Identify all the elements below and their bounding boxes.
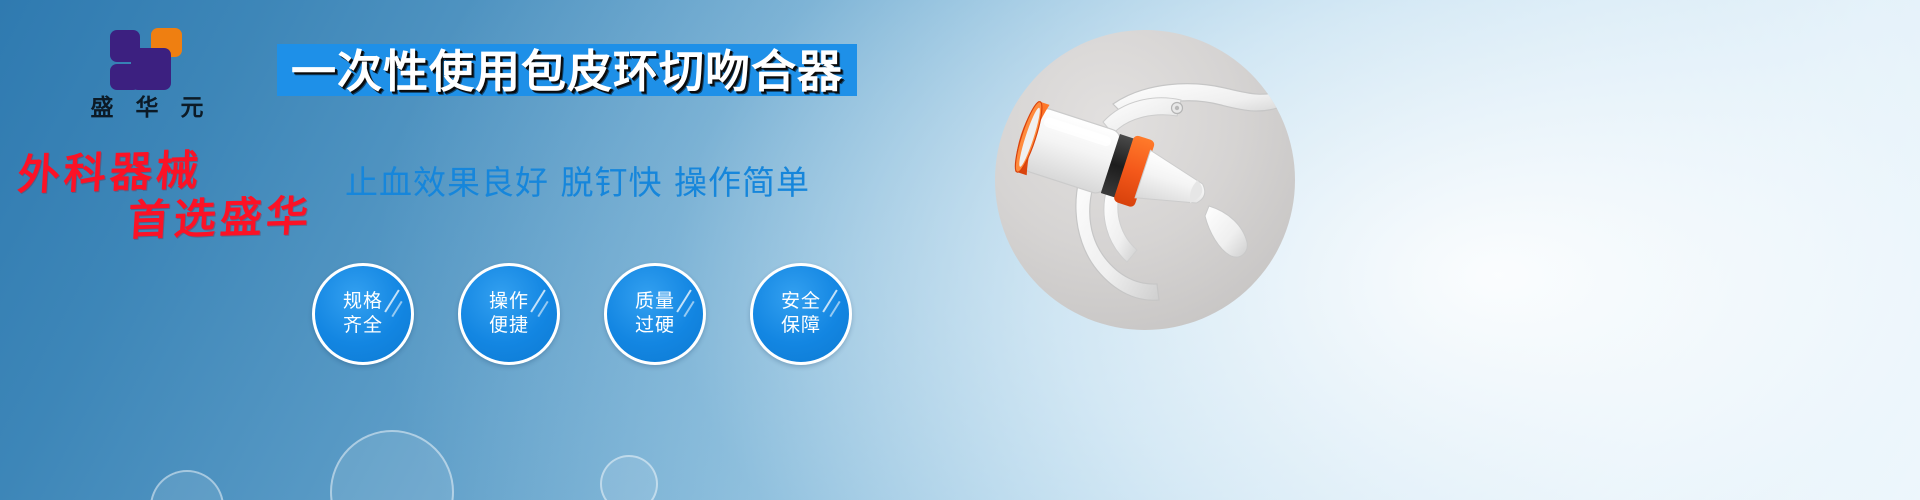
- decorative-bubble: [600, 455, 658, 500]
- slash-decoration-icon: [537, 301, 548, 317]
- feature-circle-safety[interactable]: 安全 保障: [750, 263, 852, 365]
- feature-circle-specs[interactable]: 规格 齐全: [312, 263, 414, 365]
- decorative-bubble: [330, 430, 454, 500]
- company-logo[interactable]: 盛 华 元: [62, 28, 232, 128]
- feature-label-line-1: 操作: [489, 290, 529, 314]
- feature-label: 质量 过硬: [635, 290, 675, 338]
- subtitle-text: 止血效果良好 脱钉快 操作简单: [345, 166, 810, 199]
- decorative-bubble: [150, 470, 224, 500]
- slogan-line-1: 外科器械: [16, 146, 359, 198]
- feature-label: 操作 便捷: [489, 290, 529, 338]
- product-banner: 盛 华 元 外科器械 首选盛华 一次性使用包皮环切吻合器 止血效果良好 脱钉快 …: [0, 0, 1920, 500]
- calligraphy-slogan: 外科器械 首选盛华: [18, 150, 358, 240]
- slash-decoration-icon: [829, 301, 840, 317]
- feature-label-line-1: 安全: [781, 290, 821, 314]
- feature-label-line-2: 齐全: [343, 314, 383, 338]
- feature-circle-operation[interactable]: 操作 便捷: [458, 263, 560, 365]
- product-image[interactable]: [995, 30, 1295, 330]
- slash-decoration-icon: [391, 301, 402, 317]
- feature-label-line-2: 便捷: [489, 314, 529, 338]
- feature-label-line-2: 过硬: [635, 314, 675, 338]
- feature-label-line-2: 保障: [781, 314, 821, 338]
- feature-circle-quality[interactable]: 质量 过硬: [604, 263, 706, 365]
- feature-circle-list: 规格 齐全 操作 便捷 质量 过硬 安全 保障: [312, 263, 852, 365]
- company-name-text: 盛 华 元: [62, 97, 232, 120]
- feature-label: 规格 齐全: [343, 290, 383, 338]
- circumcision-stapler-illustration: [995, 30, 1295, 330]
- feature-label-line-1: 质量: [635, 290, 675, 314]
- page-title: 一次性使用包皮环切吻合器: [291, 49, 843, 94]
- slash-decoration-icon: [683, 301, 694, 317]
- slogan-line-2: 首选盛华: [126, 194, 359, 243]
- feature-label: 安全 保障: [781, 290, 821, 338]
- main-title-bar: 一次性使用包皮环切吻合器: [277, 44, 857, 96]
- feature-label-line-1: 规格: [343, 290, 383, 314]
- logo-mark-icon: [110, 28, 184, 90]
- logo-block-bottom-left: [110, 64, 140, 90]
